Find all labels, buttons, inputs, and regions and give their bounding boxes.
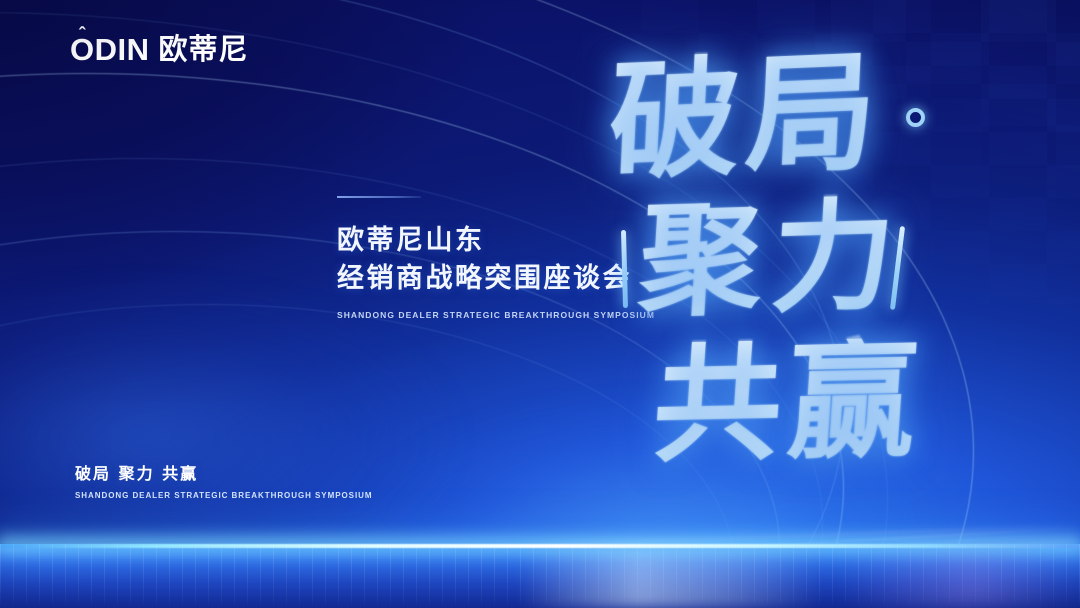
headline-row-ju-li: 聚力 — [636, 194, 908, 323]
brand-logo-o-with-macron: ˆO — [70, 34, 95, 65]
title-divider-rule — [337, 196, 421, 198]
event-poster: ˆODIN 欧蒂尼 欧蒂尼山东 经销商战略突围座谈会 SHANDONG DEAL… — [0, 0, 1080, 608]
brand-logo: ˆODIN 欧蒂尼 — [70, 34, 249, 65]
vertical-bar-left-icon — [621, 230, 628, 308]
footer-tagline: 破局 聚力 共赢 SHANDONG DEALER STRATEGIC BREAK… — [75, 466, 372, 500]
brand-logo-chinese: 欧蒂尼 — [159, 35, 249, 64]
footer-tagline-english: SHANDONG DEALER STRATEGIC BREAKTHROUGH S… — [75, 491, 372, 500]
circle-accent-icon — [906, 108, 925, 127]
ground-light-sheen-purple — [842, 544, 1080, 608]
ground-light-sheen — [518, 544, 820, 608]
headline-row-po-ju: 破局 — [607, 46, 886, 187]
brand-logo-latin: ˆODIN — [70, 34, 150, 65]
macron-accent-icon: ˆ — [79, 26, 86, 45]
brand-logo-din: DIN — [95, 32, 150, 67]
footer-tagline-chinese: 破局 聚力 共赢 — [75, 466, 372, 482]
headline-calligraphy: 破局 聚力 共赢 — [592, 52, 992, 472]
horizon-line — [0, 544, 1080, 548]
headline-row-gong-ying: 共赢 — [650, 337, 927, 471]
